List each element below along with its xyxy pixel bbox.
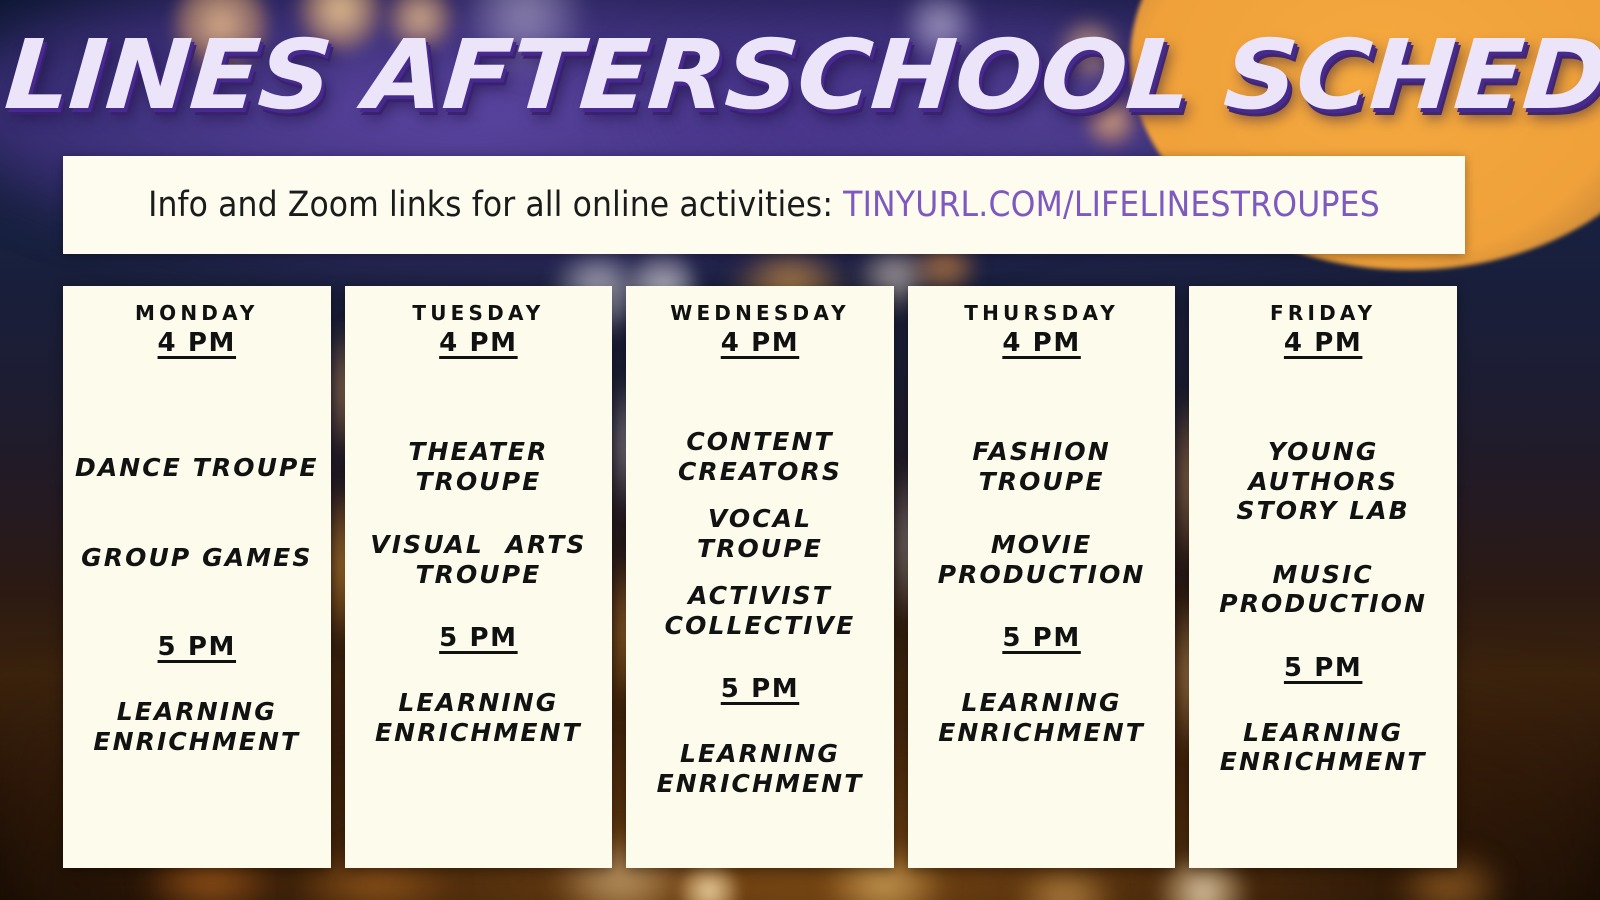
- info-bar: Info and Zoom links for all online activ…: [63, 156, 1465, 254]
- schedule-grid: MONDAY 4 PM DANCE TROUPE GROUP GAMES 5 P…: [63, 286, 1457, 868]
- poster-canvas: LIFE LINES AFTERSCHOOL SCHEDULE! Info an…: [0, 0, 1600, 900]
- day-card-wednesday: WEDNESDAY 4 PM CONTENT CREATORS VOCAL TR…: [626, 286, 894, 868]
- day-card-friday: FRIDAY 4 PM YOUNG AUTHORS STORY LAB MUSI…: [1189, 286, 1457, 868]
- day-card-monday: MONDAY 4 PM DANCE TROUPE GROUP GAMES 5 P…: [63, 286, 331, 868]
- activity-monday-2: GROUP GAMES: [81, 543, 312, 573]
- activity-tuesday-3: LEARNING ENRICHMENT: [375, 688, 582, 747]
- day-label-thursday: THURSDAY: [964, 302, 1119, 325]
- time-label-4pm-friday: 4 PM: [1284, 328, 1362, 359]
- day-card-tuesday: TUESDAY 4 PM THEATER TROUPE VISUAL ARTS …: [345, 286, 613, 868]
- day-label-monday: MONDAY: [135, 302, 259, 325]
- activity-friday-1: YOUNG AUTHORS STORY LAB: [1197, 437, 1449, 526]
- time-label-4pm-monday: 4 PM: [158, 328, 236, 359]
- time-label-4pm-wednesday: 4 PM: [721, 328, 799, 359]
- time-label-5pm-wednesday: 5 PM: [721, 674, 799, 705]
- info-lead-text: Info and Zoom links for all online activ…: [148, 185, 833, 225]
- activity-tuesday-1: THEATER TROUPE: [408, 437, 548, 496]
- time-label-4pm-thursday: 4 PM: [1002, 328, 1080, 359]
- time-label-5pm-monday: 5 PM: [158, 632, 236, 663]
- activity-thursday-3: LEARNING ENRICHMENT: [938, 688, 1145, 747]
- day-label-wednesday: WEDNESDAY: [670, 302, 850, 325]
- activity-monday-3: LEARNING ENRICHMENT: [93, 697, 300, 756]
- page-title: LIFE LINES AFTERSCHOOL SCHEDULE!: [0, 27, 1600, 123]
- activity-monday-1: DANCE TROUPE: [75, 453, 319, 483]
- time-label-4pm-tuesday: 4 PM: [439, 328, 517, 359]
- day-label-friday: FRIDAY: [1270, 302, 1376, 325]
- day-card-thursday: THURSDAY 4 PM FASHION TROUPE MOVIE PRODU…: [908, 286, 1176, 868]
- activity-wednesday-3: ACTIVIST COLLECTIVE: [665, 581, 856, 640]
- time-label-5pm-tuesday: 5 PM: [439, 623, 517, 654]
- day-label-tuesday: TUESDAY: [412, 302, 544, 325]
- time-label-5pm-thursday: 5 PM: [1002, 623, 1080, 654]
- activity-thursday-2: MOVIE PRODUCTION: [938, 530, 1146, 589]
- activity-wednesday-2: VOCAL TROUPE: [697, 504, 823, 563]
- info-bar-text: Info and Zoom links for all online activ…: [148, 185, 1380, 225]
- time-label-5pm-friday: 5 PM: [1284, 653, 1362, 684]
- poster-title-container: LIFE LINES AFTERSCHOOL SCHEDULE!: [0, 10, 1600, 140]
- activity-thursday-1: FASHION TROUPE: [972, 437, 1110, 496]
- activity-wednesday-4: LEARNING ENRICHMENT: [657, 739, 864, 798]
- info-url-link[interactable]: TINYURL.COM/LIFELINESTROUPES: [843, 185, 1380, 225]
- activity-friday-3: LEARNING ENRICHMENT: [1220, 718, 1427, 777]
- activity-friday-2: MUSIC PRODUCTION: [1219, 560, 1427, 619]
- activity-tuesday-2: VISUAL ARTS TROUPE: [370, 530, 586, 589]
- activity-wednesday-1: CONTENT CREATORS: [678, 427, 842, 486]
